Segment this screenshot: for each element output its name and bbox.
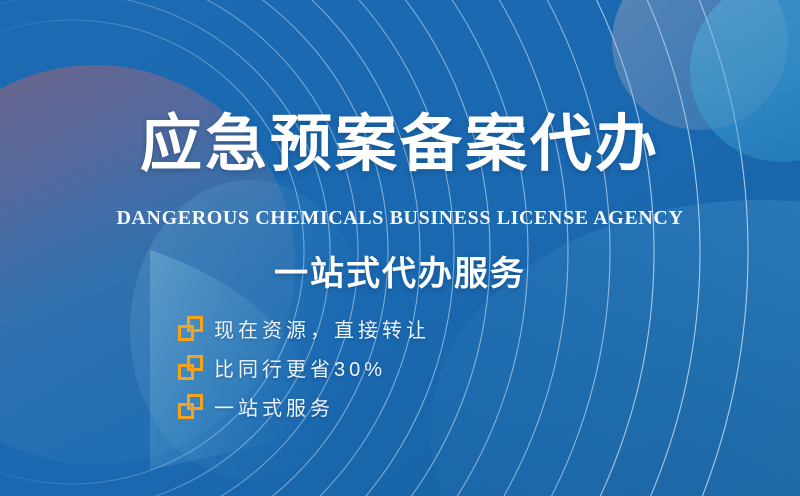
overlapping-squares-icon: [178, 394, 203, 419]
bullet-label: 一站式服务: [214, 392, 334, 421]
banner-content: 应急预案备案代办 DANGEROUS CHEMICALS BUSINESS LI…: [0, 0, 800, 496]
page-title: 应急预案备案代办: [0, 112, 800, 177]
list-item: 现在资源，直接转让: [178, 316, 430, 341]
english-subtitle: DANGEROUS CHEMICALS BUSINESS LICENSE AGE…: [0, 207, 800, 230]
list-item: 比同行更省30%: [178, 355, 430, 380]
promo-banner: 应急预案备案代办 DANGEROUS CHEMICALS BUSINESS LI…: [0, 0, 800, 496]
overlapping-squares-icon: [178, 316, 203, 341]
list-item: 一站式服务: [178, 394, 430, 419]
feature-bullet-list: 现在资源，直接转让 比同行更省30% 一站式服务: [178, 316, 430, 419]
bullet-label: 现在资源，直接转让: [214, 314, 430, 343]
slogan-text: 一站式代办服务: [0, 246, 800, 295]
overlapping-squares-icon: [178, 355, 203, 380]
bullet-label: 比同行更省30%: [214, 353, 386, 382]
